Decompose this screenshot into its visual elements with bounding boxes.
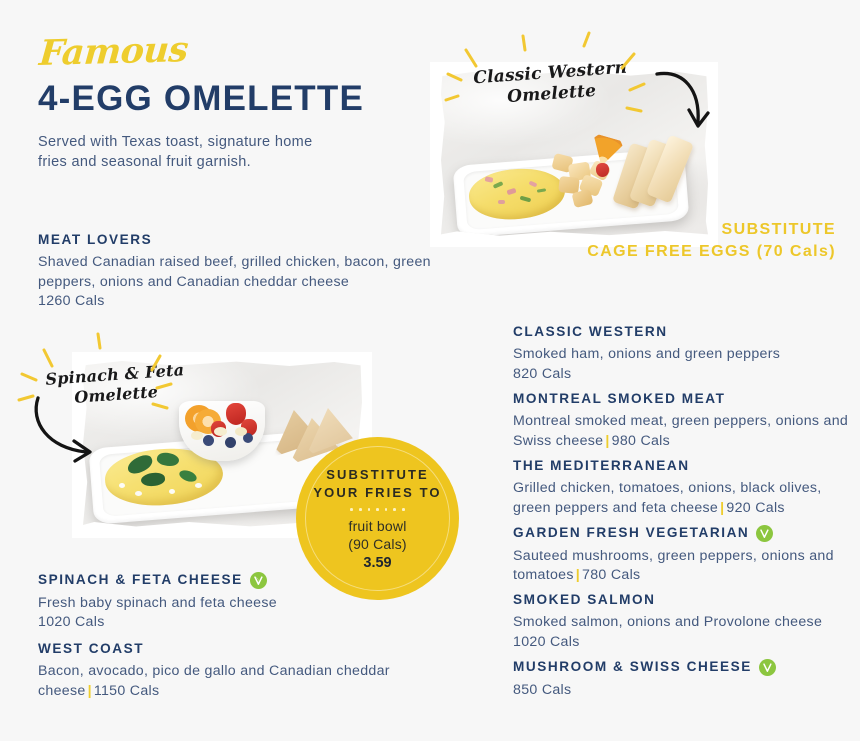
substitute-badge-price: 3.59 (363, 555, 391, 571)
menu-item-name: THE MEDITERRANEAN (513, 458, 851, 474)
cage-free-eggs-note: SUBSTITUTE CAGE FREE EGGS (70 Cals) (560, 219, 836, 262)
menu-item-calories: 980 Cals (612, 433, 670, 449)
menu-item-name: MONTREAL SMOKED MEAT (513, 391, 851, 407)
calorie-separator: | (86, 683, 94, 699)
menu-item-calories: 820 Cals (513, 366, 571, 382)
vegetarian-badge-icon (759, 659, 776, 676)
menu-item-name: GARDEN FRESH VEGETARIAN (513, 525, 851, 542)
vegetarian-badge-icon (756, 525, 773, 542)
menu-item-description: Sauteed mushrooms, green peppers, onions… (513, 547, 851, 586)
menu-item-calories: 780 Cals (582, 567, 640, 583)
calorie-separator: | (574, 567, 582, 583)
menu-item-title: GARDEN FRESH VEGETARIAN (513, 525, 749, 541)
menu-item-montreal-smoked-meat: MONTREAL SMOKED MEAT Montreal smoked mea… (513, 391, 851, 451)
classic-western-annotation (452, 44, 702, 169)
substitute-badge-item: fruit bowl (348, 517, 406, 536)
menu-item-description: Smoked salmon, onions and Provolone chee… (513, 613, 851, 652)
calorie-separator: | (603, 433, 611, 449)
menu-item-classic-western: CLASSIC WESTERN Smoked ham, onions and g… (513, 324, 843, 384)
menu-item-title: SMOKED SALMON (513, 592, 656, 608)
substitute-badge-divider (350, 508, 404, 511)
menu-item-name: SMOKED SALMON (513, 592, 851, 608)
page-header: Famous 4-EGG OMELETTE Served with Texas … (38, 36, 418, 173)
menu-item-title: SPINACH & FETA CHEESE (38, 572, 243, 588)
menu-item-calories: 850 Cals (513, 682, 571, 698)
menu-item-calories: 1150 Cals (94, 683, 160, 699)
menu-item-ingredients: Smoked salmon, onions and Provolone chee… (513, 614, 822, 630)
menu-item-ingredients: Fresh baby spinach and feta cheese (38, 595, 277, 611)
menu-item-ingredients: Shaved Canadian raised beef, grilled chi… (38, 254, 431, 289)
menu-item-description: Bacon, avocado, pico de gallo and Canadi… (38, 662, 438, 701)
sparkle-rays-icon (446, 33, 644, 111)
menu-item-garden-fresh-vegetarian: GARDEN FRESH VEGETARIAN Sauteed mushroom… (513, 525, 851, 586)
menu-item-west-coast: WEST COAST Bacon, avocado, pico de gallo… (38, 641, 438, 701)
menu-item-calories: 920 Cals (726, 500, 784, 516)
menu-item-the-mediterranean: THE MEDITERRANEAN Grilled chicken, tomat… (513, 458, 851, 518)
vegetarian-badge-icon (250, 572, 267, 589)
menu-item-name: CLASSIC WESTERN (513, 324, 843, 340)
menu-item-ingredients: Montreal smoked meat, green peppers, oni… (513, 413, 848, 448)
menu-item-name: MUSHROOM & SWISS CHEESE (513, 659, 851, 676)
menu-item-calories: 1260 Cals (38, 293, 105, 309)
menu-item-description: Smoked ham, onions and green peppers 820… (513, 345, 843, 384)
menu-item-description: 850 Cals (513, 681, 851, 700)
menu-item-smoked-salmon: SMOKED SALMON Smoked salmon, onions and … (513, 592, 851, 652)
menu-item-title: MUSHROOM & SWISS CHEESE (513, 659, 752, 675)
menu-item-description: Shaved Canadian raised beef, grilled chi… (38, 253, 438, 311)
menu-item-calories: 1020 Cals (38, 614, 105, 630)
eyebrow-famous: Famous (38, 26, 422, 71)
menu-item-description: Grilled chicken, tomatoes, onions, black… (513, 479, 851, 518)
menu-item-title: THE MEDITERRANEAN (513, 458, 690, 474)
menu-item-title: CLASSIC WESTERN (513, 324, 668, 340)
menu-item-title: WEST COAST (38, 641, 144, 657)
menu-item-calories: 1020 Cals (513, 634, 580, 650)
menu-item-description: Montreal smoked meat, green peppers, oni… (513, 412, 851, 451)
page-subtitle: Served with Texas toast, signature home … (38, 132, 338, 173)
menu-item-title: MEAT LOVERS (38, 232, 152, 248)
page-title: 4-EGG OMELETTE (38, 81, 418, 118)
menu-item-title: MONTREAL SMOKED MEAT (513, 391, 726, 407)
menu-item-ingredients: Sauteed mushrooms, green peppers, onions… (513, 548, 834, 583)
menu-item-name: WEST COAST (38, 641, 438, 657)
substitute-fries-badge[interactable]: SUBSTITUTE YOUR FRIES TO fruit bowl (90 … (296, 437, 459, 600)
sparkle-rays-icon (19, 334, 171, 408)
spinach-feta-annotation (24, 340, 214, 465)
menu-item-ingredients: Smoked ham, onions and green peppers (513, 346, 780, 362)
menu-item-mushroom-swiss-cheese: MUSHROOM & SWISS CHEESE 850 Cals (513, 659, 851, 700)
substitute-badge-heading: SUBSTITUTE YOUR FRIES TO (313, 466, 441, 501)
menu-item-name: MEAT LOVERS (38, 232, 438, 248)
substitute-badge-calories: (90 Cals) (348, 535, 407, 554)
menu-item-meat-lovers: MEAT LOVERS Shaved Canadian raised beef,… (38, 232, 438, 312)
